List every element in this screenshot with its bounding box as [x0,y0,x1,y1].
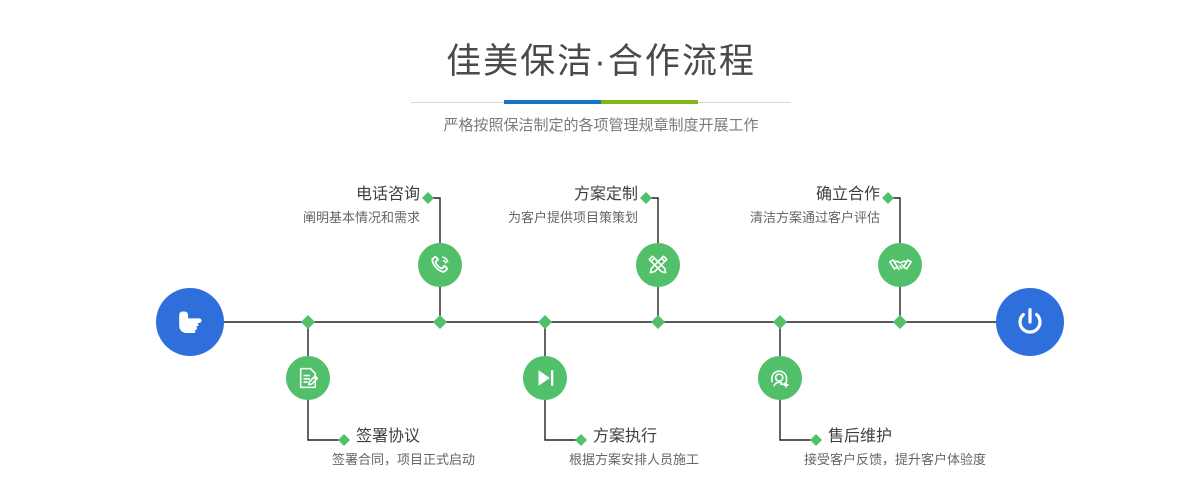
flow-start-node[interactable] [156,288,224,356]
step-desc: 清洁方案通过客户评估 [640,209,880,227]
power-button-icon [1011,303,1049,341]
step-icon-above-2[interactable] [636,243,680,287]
axis-diamond-3 [538,315,552,329]
step-icon-above-3[interactable] [878,243,922,287]
phone-call-icon [427,252,453,278]
axis-diamond-2 [433,315,447,329]
step-label-above-2: 方案定制 为客户提供项目策策划 [398,185,638,227]
label-diamond-below-1 [338,434,350,446]
step-title: 签署协议 [356,427,616,447]
step-icon-below-3[interactable] [758,356,802,400]
pencil-ruler-icon [645,252,671,278]
axis-diamond-4 [651,315,665,329]
step-icon-above-1[interactable] [418,243,462,287]
step-title: 确立合作 [640,185,880,205]
flow-end-node[interactable] [996,288,1064,356]
step-desc: 接受客户反馈，提升客户体验度 [804,451,1108,469]
label-diamond-above-3 [882,192,894,204]
axis-diamond-1 [301,315,315,329]
step-title: 方案定制 [398,185,638,205]
axis-diamond-5 [773,315,787,329]
step-icon-below-1[interactable] [286,356,330,400]
document-edit-icon [295,365,321,391]
headset-support-icon [767,365,793,391]
axis-diamond-6 [893,315,907,329]
step-icon-below-2[interactable] [523,356,567,400]
step-title: 售后维护 [828,427,1108,447]
handshake-icon [887,252,914,279]
pointing-hand-icon [170,302,210,342]
infographic-canvas: 佳美保洁·合作流程 严格按照保洁制定的各项管理规章制度开展工作 [0,0,1202,502]
step-title: 电话咨询 [180,185,420,205]
step-label-above-3: 确立合作 清洁方案通过客户评估 [640,185,880,227]
play-forward-icon [532,365,558,391]
step-label-below-3: 售后维护 接受客户反馈，提升客户体验度 [828,427,1108,469]
step-label-above-1: 电话咨询 阐明基本情况和需求 [180,185,420,227]
step-desc: 阐明基本情况和需求 [180,209,420,227]
step-desc: 为客户提供项目策策划 [398,209,638,227]
step-title: 方案执行 [593,427,853,447]
